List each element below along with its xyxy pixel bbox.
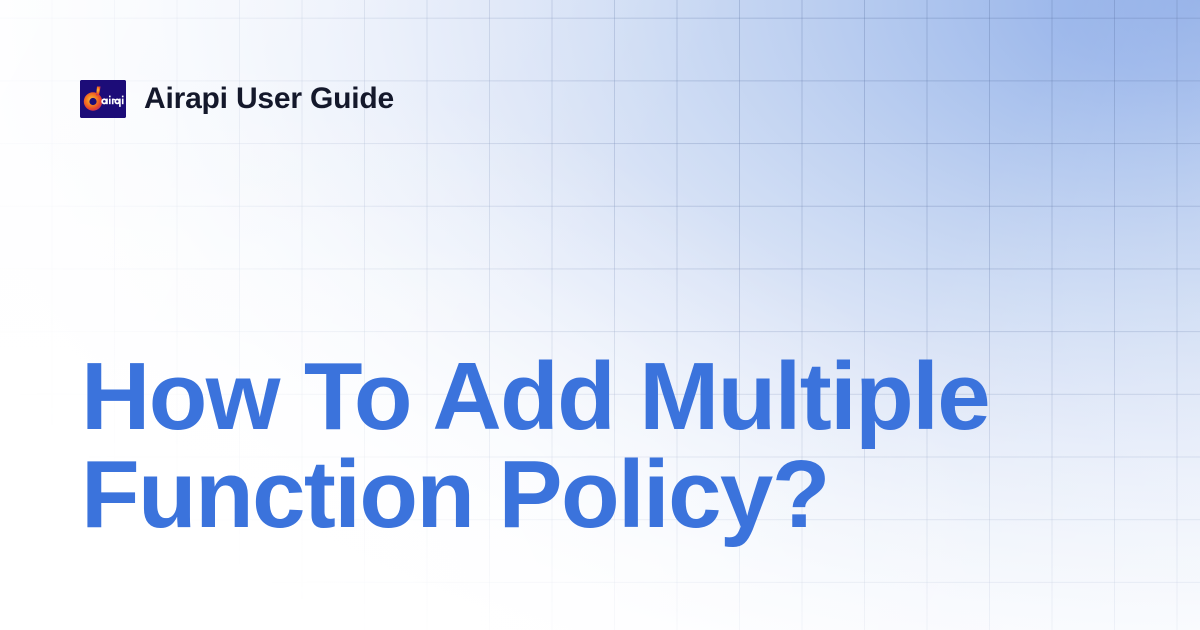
og-banner: Airapi User Guide How To Add Multiple Fu… [0,0,1200,630]
page-title: How To Add Multiple Function Policy? [81,348,1121,544]
brand-title: Airapi User Guide [144,84,394,114]
airapi-logo-icon [80,80,126,118]
brand-header: Airapi User Guide [80,80,394,118]
page-title-line-2: Function Policy? [81,446,1121,544]
banner-content: Airapi User Guide How To Add Multiple Fu… [0,0,1200,630]
page-title-line-1: How To Add Multiple [81,348,1121,446]
